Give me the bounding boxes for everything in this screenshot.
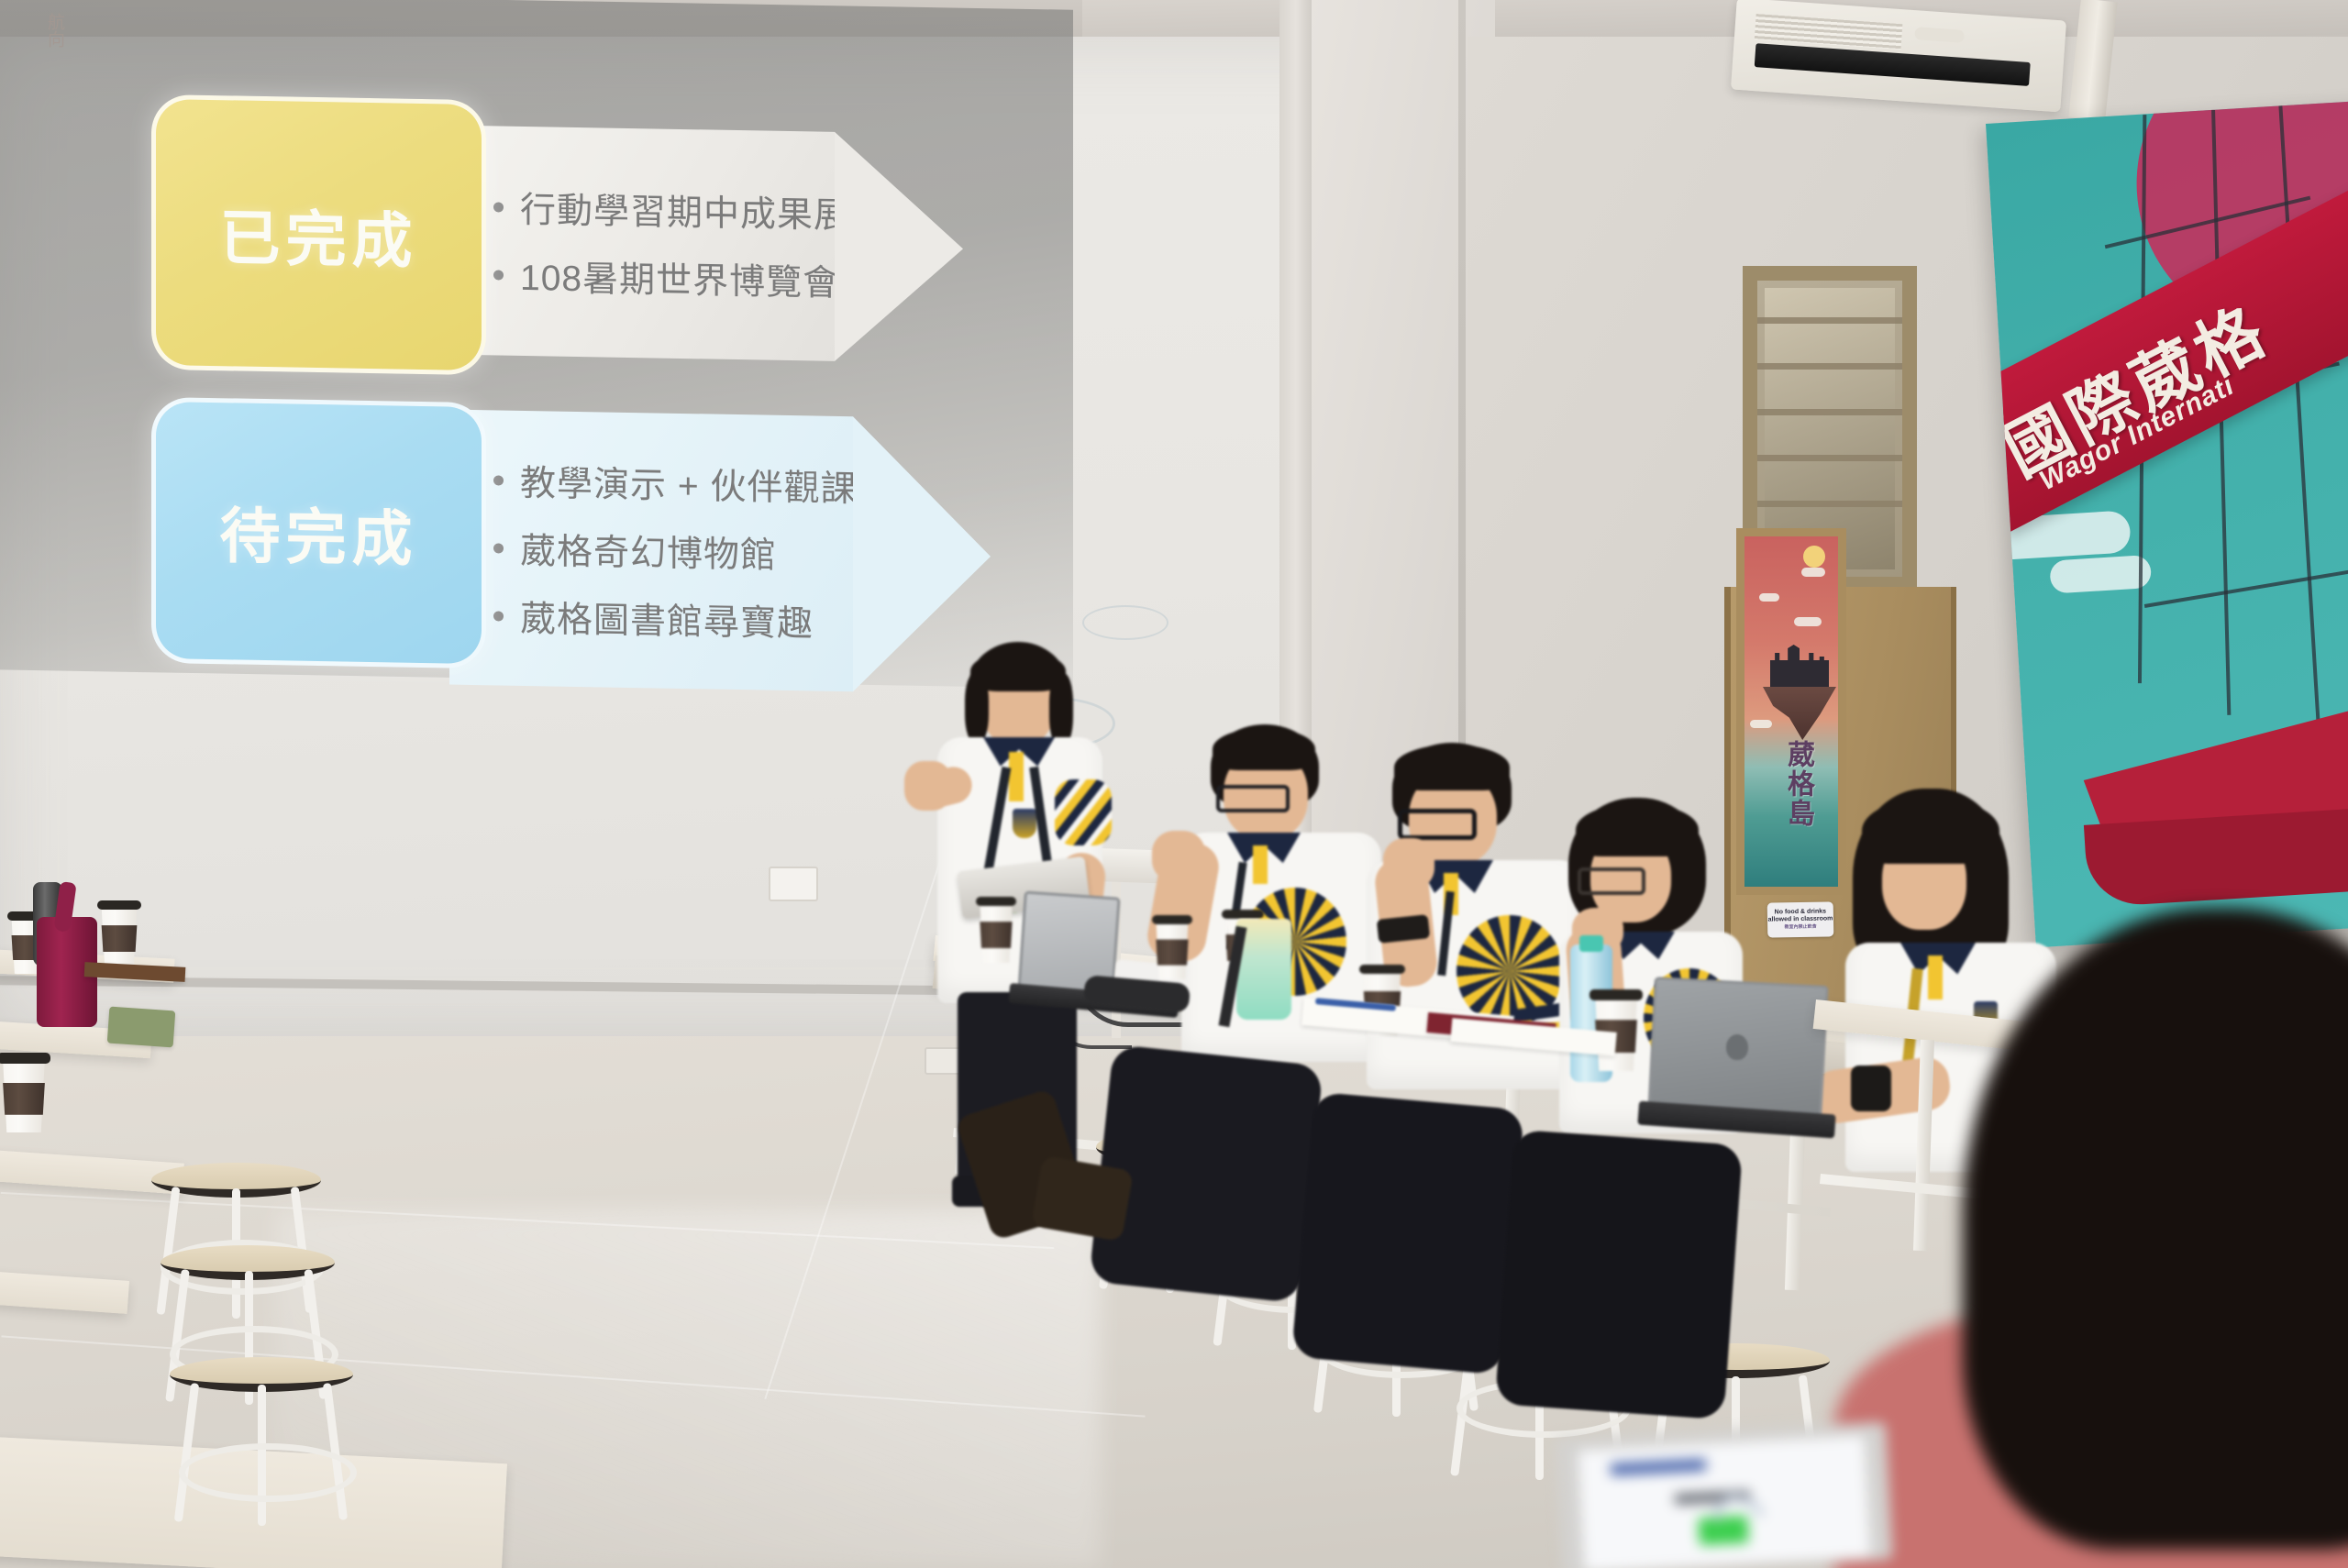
coffee-cup bbox=[1154, 921, 1191, 979]
bullet-dot-icon bbox=[493, 611, 504, 621]
bullet-dot-icon bbox=[493, 475, 504, 485]
hand-fist bbox=[1152, 831, 1205, 882]
power-outlet bbox=[769, 867, 818, 901]
window-glass bbox=[1765, 288, 1895, 569]
stool-ring bbox=[179, 1443, 357, 1502]
classroom-scene: 航向 葳格島 No food & drinks allowed in class… bbox=[0, 0, 2348, 1568]
window-blind bbox=[1757, 501, 1902, 507]
ac-display bbox=[1914, 27, 1965, 43]
hair-top bbox=[1394, 745, 1510, 790]
window-blind bbox=[1757, 455, 1902, 461]
hair-side bbox=[965, 673, 989, 743]
cup-lid bbox=[97, 900, 141, 910]
hair-fringe bbox=[1576, 803, 1699, 856]
polo-placket bbox=[1253, 845, 1268, 884]
hand-gesture bbox=[904, 761, 952, 811]
arrow-body: 行動學習期中成果展 108暑期世界博覽會 bbox=[449, 126, 835, 361]
cup-lid bbox=[1222, 910, 1264, 919]
window-blind bbox=[1757, 317, 1902, 324]
poster-bottom-title: 葳格島 bbox=[1774, 740, 1818, 828]
sleeve-chevron-patch bbox=[1055, 779, 1112, 845]
sun-icon bbox=[1803, 546, 1825, 568]
status-tag-label: 待完成 bbox=[220, 487, 418, 579]
notebook bbox=[107, 1007, 176, 1048]
rock-shape bbox=[1763, 687, 1836, 740]
foreground-laptop[interactable] bbox=[1559, 1430, 1926, 1568]
whiteboard-scribble bbox=[1082, 605, 1168, 640]
bullet-label: 行動學習期中成果展 bbox=[520, 182, 850, 238]
arrow-pending: 教學演示 + 伙伴觀課 葳格奇幻博物館 葳格圖書館尋寶趣 bbox=[449, 410, 991, 694]
coffee-cup bbox=[0, 1059, 48, 1132]
cloud-icon bbox=[1794, 617, 1822, 626]
window-blind bbox=[1757, 363, 1902, 370]
stool[interactable] bbox=[170, 1357, 353, 1527]
seated-legs bbox=[1495, 1130, 1743, 1420]
arrow-completed: 行動學習期中成果展 108暑期世界博覽會 bbox=[449, 126, 963, 364]
cup-sleeve bbox=[1154, 939, 1191, 965]
banner-title-cn: 國際葳格 bbox=[1986, 276, 2283, 493]
bullet-item: 行動學習期中成果展 bbox=[493, 181, 835, 237]
cup-lid bbox=[0, 1053, 50, 1064]
cup-sleeve bbox=[0, 1083, 48, 1115]
coffee-cup bbox=[99, 906, 139, 966]
bullet-dot-icon bbox=[493, 202, 504, 212]
glasses-icon bbox=[1578, 867, 1645, 895]
presentation-slide: 行動學習期中成果展 108暑期世界博覽會 教學演示 + 伙伴觀課 葳格奇幻博物館 bbox=[0, 73, 1082, 716]
status-tag-completed: 已完成 bbox=[151, 94, 486, 375]
rigging-line bbox=[2144, 565, 2348, 608]
bullet-dot-icon bbox=[493, 270, 504, 280]
bullet-label: 108暑期世界博覽會 bbox=[520, 249, 839, 306]
cup-lid bbox=[1152, 915, 1192, 924]
bullet-item: 108暑期世界博覽會 bbox=[493, 248, 835, 305]
bullet-label: 教學演示 + 伙伴觀課 bbox=[520, 455, 857, 512]
bullet-item: 教學演示 + 伙伴觀課 bbox=[493, 454, 853, 512]
glasses-icon bbox=[1216, 785, 1290, 812]
cup-lid bbox=[976, 897, 1016, 906]
foreground-hair bbox=[1963, 908, 2348, 1550]
cloud-icon bbox=[1759, 593, 1779, 602]
castle-icon bbox=[1770, 645, 1829, 690]
window-blind bbox=[1757, 409, 1902, 415]
cup-lid bbox=[1589, 989, 1642, 1000]
hair-fringe bbox=[1862, 798, 1999, 864]
status-tag-pending: 待完成 bbox=[151, 397, 486, 668]
bullet-label: 葳格奇幻博物館 bbox=[520, 523, 777, 579]
status-tag-label: 已完成 bbox=[220, 189, 418, 281]
cup-lid bbox=[1359, 965, 1406, 975]
hand-on-chin bbox=[1383, 838, 1434, 889]
bullet-label: 葳格圖書館尋寶趣 bbox=[520, 591, 814, 647]
apple-logo-icon bbox=[1726, 1034, 1748, 1060]
polo-placket bbox=[1009, 752, 1024, 801]
bullet-dot-icon bbox=[493, 543, 504, 553]
hair-side bbox=[1049, 673, 1073, 746]
stool-leg bbox=[174, 1383, 199, 1522]
cup-sleeve bbox=[99, 925, 139, 952]
ac-vent bbox=[1755, 43, 2031, 86]
hair-top bbox=[1213, 728, 1315, 770]
bullet-item: 葳格圖書館尋寶趣 bbox=[493, 590, 853, 647]
cloud-icon bbox=[1801, 568, 1825, 577]
arrow-head bbox=[835, 132, 963, 363]
bullet-item: 葳格奇幻博物館 bbox=[493, 522, 853, 580]
floating-island-illustration bbox=[1759, 645, 1840, 741]
arrow-body: 教學演示 + 伙伴觀課 葳格奇幻博物館 葳格圖書館尋寶趣 bbox=[449, 410, 853, 692]
coffee-cup bbox=[978, 902, 1014, 963]
glasses-icon bbox=[1398, 809, 1477, 840]
cloud-shape bbox=[2049, 555, 2152, 594]
school-crest-icon bbox=[1013, 809, 1036, 838]
seated-legs bbox=[1291, 1092, 1524, 1375]
bottle-cap bbox=[1579, 935, 1603, 952]
cup-sleeve bbox=[978, 922, 1014, 948]
